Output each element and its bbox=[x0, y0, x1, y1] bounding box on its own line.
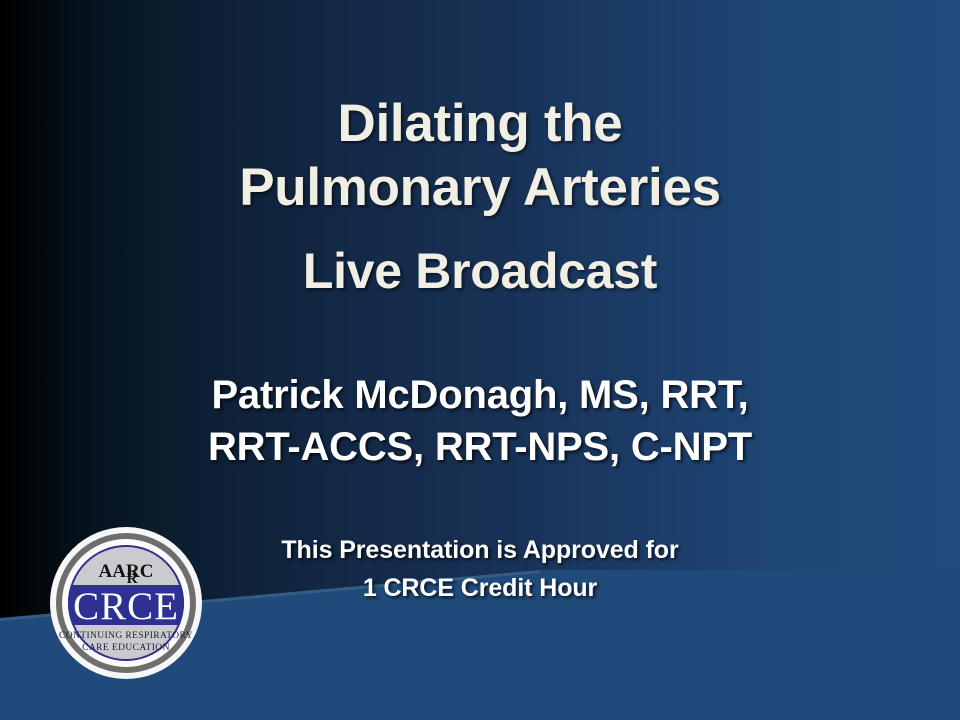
crce-tagline-line-2: CARE EDUCATION bbox=[82, 643, 170, 653]
presenter-credentials-line-2: RRT-ACCS, RRT-NPS, C-NPT bbox=[0, 421, 960, 473]
page-title-line-2: Pulmonary Arteries bbox=[0, 156, 960, 220]
page-title-line-1: Dilating the bbox=[0, 92, 960, 156]
crce-tagline-line-1: CONTINUING RESPIRATORY bbox=[59, 631, 193, 641]
crce-acronym-text: CRCE bbox=[73, 585, 179, 628]
slide-subtitle: Live Broadcast bbox=[0, 240, 960, 302]
presentation-slide: Dilating the Pulmonary Arteries Live Bro… bbox=[0, 0, 960, 720]
crce-seal-logo: AARC R CRCE CONTINUING RESPIRATORY CARE … bbox=[48, 525, 204, 681]
presenter-name-line-1: Patrick McDonagh, MS, RRT, bbox=[0, 369, 960, 421]
